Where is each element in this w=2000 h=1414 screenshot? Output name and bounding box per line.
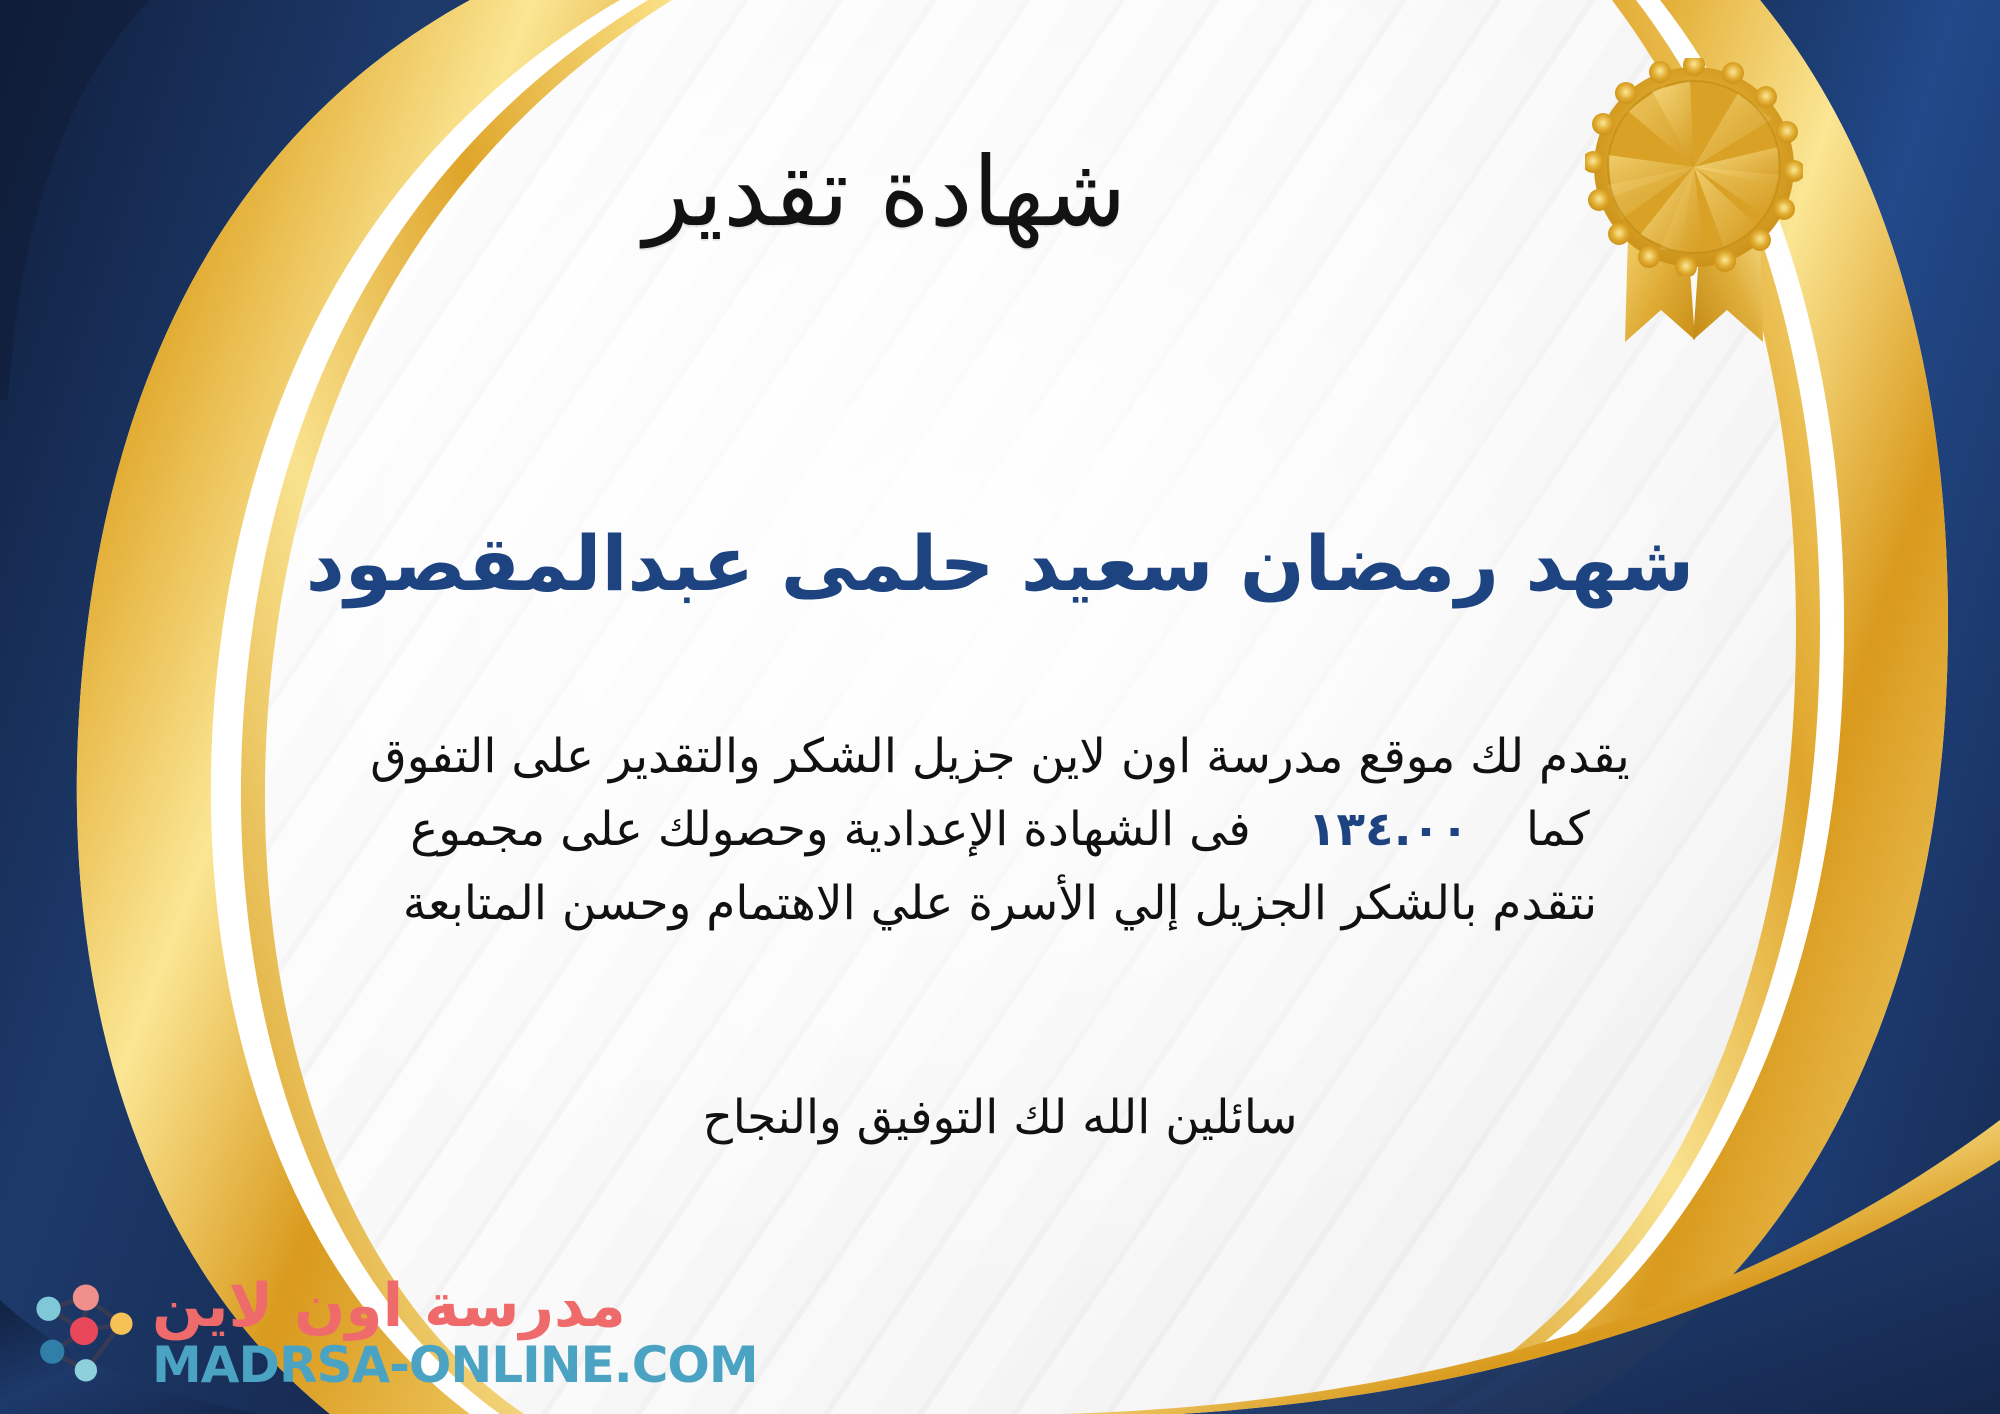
certificate-title: شهادة تقدير (0, 136, 2000, 248)
body-line-2: كما ١٣٤.٠٠ فى الشهادة الإعدادية وحصولك ع… (95, 793, 1905, 866)
body-line-2-prefix: فى الشهادة الإعدادية وحصولك على مجموع (410, 802, 1251, 857)
certificate-canvas: شهادة تقدير شهد رمضان سعيد حلمى عبدالمقص… (0, 0, 2000, 1414)
brand-text-block: مدرسة اون لاين MADRSA-ONLINE.COM (152, 1276, 758, 1390)
brand-name-arabic: مدرسة اون لاين (152, 1276, 626, 1336)
brand-name-english: MADRSA-ONLINE.COM (152, 1340, 758, 1390)
closing-wish-line: سائلين الله لك التوفيق والنجاح (0, 1090, 2000, 1145)
body-line-3: نتقدم بالشكر الجزيل إلي الأسرة علي الاهت… (95, 867, 1905, 940)
recipient-name: شهد رمضان سعيد حلمى عبدالمقصود (0, 520, 2000, 607)
brand-logo[interactable]: مدرسة اون لاين MADRSA-ONLINE.COM (28, 1276, 758, 1390)
body-line-2-suffix: كما (1526, 802, 1590, 857)
certificate-body: يقدم لك موقع مدرسة اون لاين جزيل الشكر و… (0, 720, 2000, 940)
network-nodes-icon (28, 1277, 140, 1389)
body-line-1: يقدم لك موقع مدرسة اون لاين جزيل الشكر و… (95, 720, 1905, 793)
grade-total-value: ١٣٤.٠٠ (1308, 802, 1469, 857)
